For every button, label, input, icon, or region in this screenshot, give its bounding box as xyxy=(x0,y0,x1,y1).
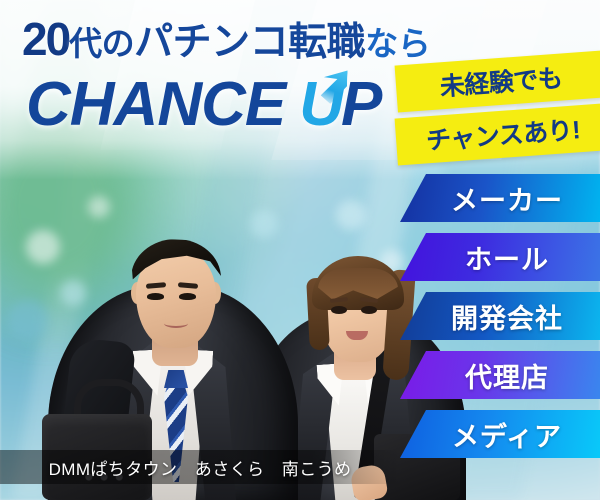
category-label-maker: メーカー xyxy=(451,179,563,218)
headline-dai: 代 xyxy=(69,25,102,62)
category-button-maker[interactable]: メーカー xyxy=(400,174,600,222)
category-button-developer[interactable]: 開発会社 xyxy=(400,292,600,340)
headline-number: 20 xyxy=(22,13,69,65)
category-label-developer: 開発会社 xyxy=(451,297,563,336)
category-label-media: メディア xyxy=(452,415,562,454)
man-eye-left xyxy=(147,293,164,300)
badge-group: 未経験でも チャンスあり! xyxy=(396,58,600,158)
headline-no: の xyxy=(102,25,135,62)
badge-chance-available: チャンスあり! xyxy=(395,103,600,165)
recruitment-banner[interactable]: 20代のパチンコ転職なら CHANCE U P 未経験でも チャンスあり! メー… xyxy=(0,0,600,500)
man-eye-right xyxy=(179,293,196,300)
badge-inexperienced: 未経験でも xyxy=(395,50,600,112)
man-photo xyxy=(48,150,298,500)
logo-chance-text: CHANCE xyxy=(26,74,285,136)
category-button-media[interactable]: メディア xyxy=(400,410,600,458)
headline-main: パチンコ転職 xyxy=(134,21,365,64)
headline-line: 20代のパチンコ転職なら xyxy=(22,16,430,62)
credits-text: DMMぱちタウン あさくら 南こうめ xyxy=(49,455,352,480)
category-button-list: メーカー ホール 開発会社 代理店 メディア xyxy=(400,174,600,458)
credits-bar: DMMぱちタウン あさくら 南こうめ xyxy=(0,450,400,484)
logo-u-wrapper: U xyxy=(299,74,343,136)
headline-suffix: なら xyxy=(365,25,430,62)
category-button-hall[interactable]: ホール xyxy=(400,233,600,281)
category-label-hall: ホール xyxy=(465,238,549,277)
category-label-agency: 代理店 xyxy=(465,356,549,395)
category-button-agency[interactable]: 代理店 xyxy=(400,351,600,399)
woman-eye-right xyxy=(361,306,377,314)
woman-eye-left xyxy=(331,306,347,314)
man-mouth xyxy=(164,319,188,328)
chance-up-logo: CHANCE U P xyxy=(26,74,381,136)
headline: 20代のパチンコ転職なら xyxy=(22,16,430,62)
